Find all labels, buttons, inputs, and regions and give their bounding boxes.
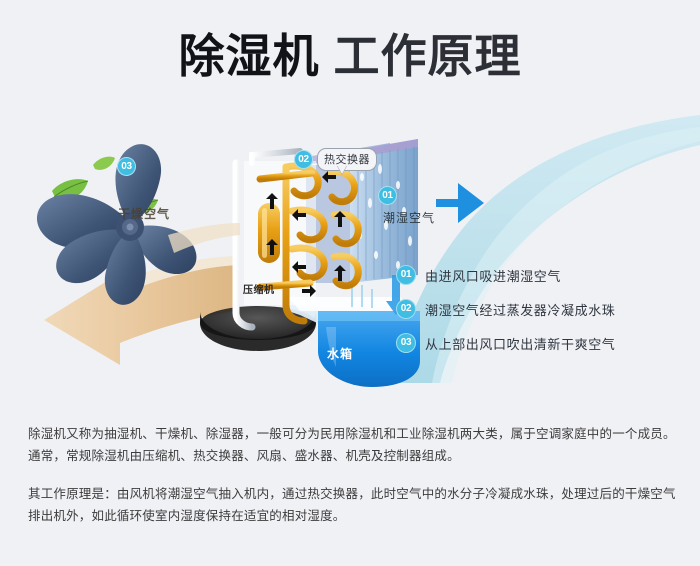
- heat-exchanger-callout: 热交换器: [317, 148, 377, 171]
- diagram-badge-01: 01: [378, 186, 397, 205]
- description-p1-line2: 通常，常规除湿机由压缩机、热交换器、风扇、盛水器、机壳及控制器组成。: [28, 445, 676, 467]
- legend-item-03: 03 从上部出风口吹出清新干爽空气: [396, 326, 686, 360]
- legend-text-02: 潮湿空气经过蒸发器冷凝成水珠: [425, 300, 615, 319]
- compressor-cylinder-highlight: [262, 208, 267, 258]
- leaf-icon-2: [93, 157, 115, 170]
- diagram-badge-03: 03: [117, 157, 136, 176]
- legend-text-01: 由进风口吸进潮湿空气: [425, 266, 561, 285]
- legend-item-01: 01 由进风口吸进潮湿空气: [396, 258, 686, 292]
- page-title-light: 工作原理: [334, 30, 522, 82]
- legend-text-03: 从上部出风口吹出清新干爽空气: [425, 334, 615, 353]
- description-p2-line1: 其工作原理是：由风机将潮湿空气抽入机内，通过热交换器，此时空气中的水分子冷凝成水…: [28, 483, 676, 505]
- description-paragraph-2: 其工作原理是：由风机将潮湿空气抽入机内，通过热交换器，此时空气中的水分子冷凝成水…: [28, 483, 676, 527]
- diagram-badge-02: 02: [294, 150, 313, 169]
- compressor-cylinder: [258, 203, 280, 263]
- legend-badge-03: 03: [396, 333, 416, 353]
- description-p2-line2: 排出机外，如此循环使室内湿度保持在适宜的相对湿度。: [28, 505, 676, 527]
- page-title-bold: 除湿机: [179, 30, 320, 82]
- page-title: 除湿机工作原理: [0, 28, 700, 86]
- label-dry-air: 干燥空气: [118, 208, 170, 220]
- heat-exchanger-callout-tail: [337, 165, 347, 174]
- page-root: 除湿机工作原理: [0, 0, 700, 566]
- label-compressor: 压缩机: [243, 286, 275, 296]
- label-humid-air: 潮湿空气: [383, 212, 435, 224]
- legend-item-02: 02 潮湿空气经过蒸发器冷凝成水珠: [396, 292, 686, 326]
- legend-badge-01: 01: [396, 265, 416, 285]
- description-p1-line1: 除湿机又称为抽湿机、干燥机、除湿器，一般可分为民用除湿机和工业除湿机两大类，属于…: [28, 423, 676, 445]
- legend-list: 01 由进风口吸进潮湿空气 02 潮湿空气经过蒸发器冷凝成水珠 03 从上部出风…: [396, 258, 686, 360]
- legend-badge-02: 02: [396, 299, 416, 319]
- fan-air-stream: [168, 223, 240, 253]
- description-paragraph-1: 除湿机又称为抽湿机、干燥机、除湿器，一般可分为民用除湿机和工业除湿机两大类，属于…: [28, 423, 676, 467]
- label-water-tank: 水箱: [327, 348, 353, 360]
